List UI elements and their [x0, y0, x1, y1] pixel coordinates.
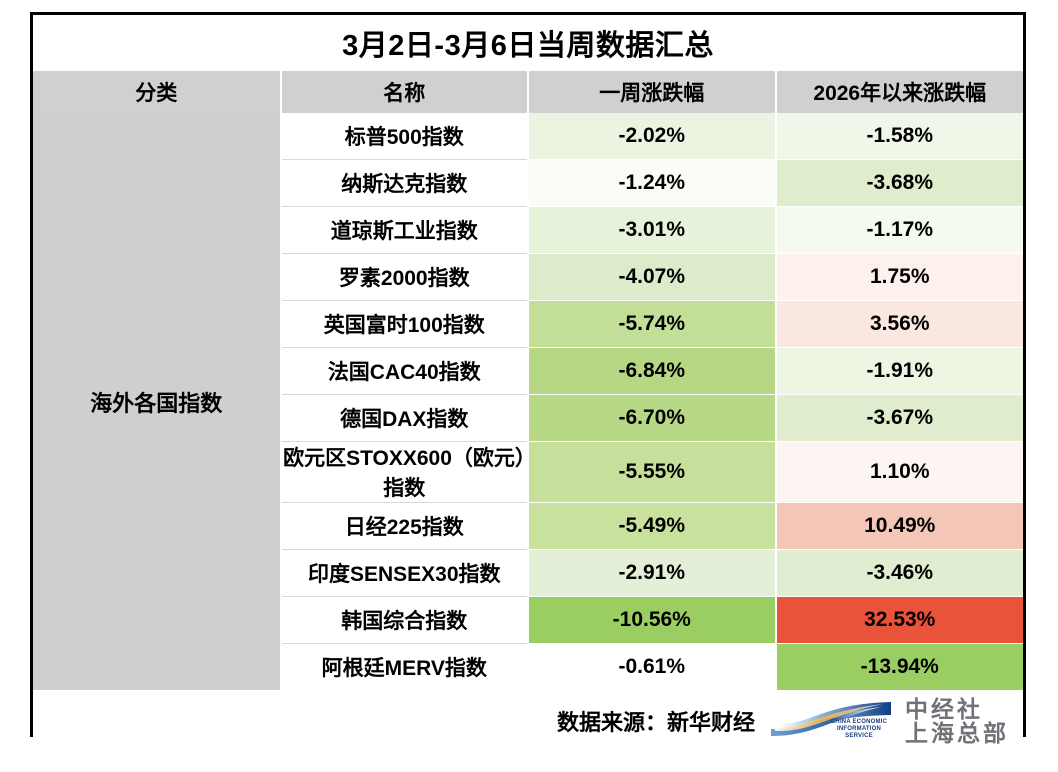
summary-table-container: 3月2日-3月6日当周数据汇总分类名称一周涨跌幅2026年以来涨跌幅海外各国指数… — [30, 12, 1026, 737]
column-header-category: 分类 — [33, 71, 281, 113]
index-name-cell: 德国DAX指数 — [281, 395, 529, 442]
ytd-change-cell: 32.53% — [776, 597, 1024, 644]
logo-en-line1: CHINA ECONOMIC — [831, 719, 887, 725]
logo-cn-line2: 上海总部 — [905, 720, 1009, 746]
index-name-cell: 韩国综合指数 — [281, 597, 529, 644]
footer-row: 数据来源：新华财经CHINA ECONOMICINFORMATION SERVI… — [33, 690, 1023, 752]
weekly-change-cell: -5.74% — [528, 301, 776, 348]
swoosh-icon: CHINA ECONOMICINFORMATION SERVICE — [771, 698, 897, 744]
index-name-cell: 欧元区STOXX600（欧元）指数 — [281, 442, 529, 503]
column-header-name: 名称 — [281, 71, 529, 113]
index-name-cell: 纳斯达克指数 — [281, 160, 529, 207]
weekly-change-cell: -0.61% — [528, 644, 776, 691]
index-name-cell: 罗素2000指数 — [281, 254, 529, 301]
index-name-cell: 标普500指数 — [281, 113, 529, 160]
ytd-change-cell: -3.68% — [776, 160, 1024, 207]
logo-chinese-text: 中经社上海总部 — [905, 697, 1009, 745]
index-name-cell: 印度SENSEX30指数 — [281, 550, 529, 597]
logo-english-text: CHINA ECONOMICINFORMATION SERVICE — [823, 719, 895, 740]
weekly-change-cell: -10.56% — [528, 597, 776, 644]
ytd-change-cell: -1.58% — [776, 113, 1024, 160]
weekly-change-cell: -3.01% — [528, 207, 776, 254]
footer-content: 数据来源：新华财经CHINA ECONOMICINFORMATION SERVI… — [33, 690, 1009, 752]
ytd-change-cell: -1.91% — [776, 348, 1024, 395]
ytd-change-cell: 1.10% — [776, 442, 1024, 503]
index-name-cell: 法国CAC40指数 — [281, 348, 529, 395]
publisher-logo: CHINA ECONOMICINFORMATION SERVICE中经社上海总部 — [771, 697, 1009, 745]
weekly-change-cell: -4.07% — [528, 254, 776, 301]
data-source-label: 数据来源：新华财经 — [557, 705, 755, 737]
title-row: 3月2日-3月6日当周数据汇总 — [33, 15, 1023, 71]
category-label: 海外各国指数 — [33, 113, 281, 690]
logo-en-line2: INFORMATION SERVICE — [837, 726, 881, 739]
logo-cn-line1: 中经社 — [905, 696, 983, 722]
ytd-change-cell: 3.56% — [776, 301, 1024, 348]
footer-cell: 数据来源：新华财经CHINA ECONOMICINFORMATION SERVI… — [33, 690, 1023, 752]
index-name-cell: 日经225指数 — [281, 503, 529, 550]
weekly-change-cell: -6.84% — [528, 348, 776, 395]
ytd-change-cell: 1.75% — [776, 254, 1024, 301]
table-header-row: 分类名称一周涨跌幅2026年以来涨跌幅 — [33, 71, 1023, 113]
ytd-change-cell: -1.17% — [776, 207, 1024, 254]
ytd-change-cell: -13.94% — [776, 644, 1024, 691]
column-header-ytd: 2026年以来涨跌幅 — [776, 71, 1024, 113]
weekly-change-cell: -6.70% — [528, 395, 776, 442]
index-name-cell: 道琼斯工业指数 — [281, 207, 529, 254]
ytd-change-cell: 10.49% — [776, 503, 1024, 550]
page-title: 3月2日-3月6日当周数据汇总 — [33, 15, 1023, 71]
weekly-change-cell: -1.24% — [528, 160, 776, 207]
index-name-cell: 英国富时100指数 — [281, 301, 529, 348]
weekly-change-cell: -2.91% — [528, 550, 776, 597]
ytd-change-cell: -3.67% — [776, 395, 1024, 442]
column-header-week: 一周涨跌幅 — [528, 71, 776, 113]
weekly-change-cell: -2.02% — [528, 113, 776, 160]
weekly-data-table: 3月2日-3月6日当周数据汇总分类名称一周涨跌幅2026年以来涨跌幅海外各国指数… — [33, 15, 1023, 752]
table-row: 海外各国指数标普500指数-2.02%-1.58% — [33, 113, 1023, 160]
weekly-change-cell: -5.55% — [528, 442, 776, 503]
ytd-change-cell: -3.46% — [776, 550, 1024, 597]
index-name-cell: 阿根廷MERV指数 — [281, 644, 529, 691]
weekly-change-cell: -5.49% — [528, 503, 776, 550]
